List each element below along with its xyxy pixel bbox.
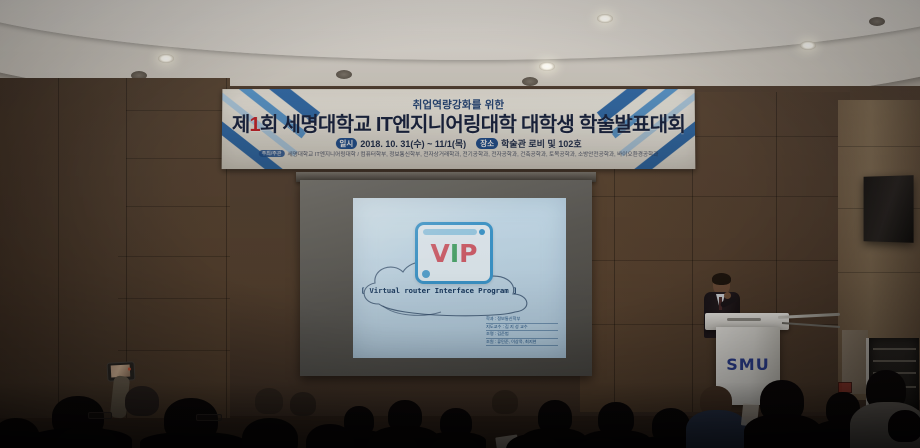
- podium-slot: [727, 318, 761, 321]
- audience-head: [242, 418, 298, 448]
- slide-notes: 학과 : 정보통신학부 지도교수 : 김 지 성 교수 조명 : 김준범 조원 …: [486, 316, 558, 346]
- vip-letter-v: V: [431, 239, 450, 268]
- projection-screen: VIP [ Virtual router Interface Program ]…: [353, 198, 566, 358]
- eyeglasses: [88, 412, 112, 419]
- slide-note-line: 학과 : 정보통신학부: [486, 316, 558, 324]
- ceiling-spotlight: [800, 41, 816, 50]
- phone-indicator-icon: [128, 367, 131, 370]
- presenter-hand: [724, 292, 731, 299]
- audience-head: [492, 390, 518, 414]
- banner-place-value: 학술관 로비 및 102호: [501, 139, 582, 149]
- ceiling-spotlight: [158, 54, 174, 63]
- ceiling-spotlight: [597, 14, 613, 23]
- slide-note-line: 조원 : 류민준, 이상욱, 최지현: [486, 339, 558, 347]
- banner-title-prefix: 제: [232, 114, 250, 136]
- banner-title: 제1회 세명대학교 IT엔지니어링대학 대학생 학술발표대회: [222, 108, 695, 137]
- banner-title-suffix: 회: [260, 114, 278, 136]
- browser-window-icon: VIP: [415, 222, 493, 284]
- audience-head: [290, 392, 316, 416]
- audience: [0, 352, 920, 448]
- eyeglasses: [196, 414, 222, 421]
- banner-orgs-pill: 주최/주관: [259, 150, 285, 157]
- banner-place-pill: 장소: [476, 138, 498, 149]
- ceiling-vent: [869, 17, 885, 26]
- audience-head: [125, 386, 159, 416]
- vip-letter-i: I: [450, 239, 459, 268]
- browser-badge-icon: [422, 270, 430, 278]
- audience-head: [888, 410, 920, 442]
- slide-caption: [ Virtual router Interface Program ]: [359, 286, 519, 295]
- banner-meta: 일시2018. 10. 31(수) ~ 11/1(목) 장소학술관 로비 및 1…: [222, 137, 695, 150]
- browser-address-bar-icon: [423, 229, 477, 235]
- ceiling-vent: [336, 70, 352, 79]
- banner-date-value: 2018. 10. 31(수) ~ 11/1(목): [360, 139, 466, 149]
- banner-title-main: 세명대학교 IT엔지니어링대학 대학생 학술발표대회: [282, 114, 685, 136]
- audience-head: [0, 418, 40, 448]
- slide-note-line: 지도교수 : 김 지 성 교수: [486, 324, 558, 332]
- ceiling-vent: [522, 77, 538, 86]
- banner-title-number: 1: [249, 114, 260, 136]
- conference-hall-photo: 취업역량강화를 위한 제1회 세명대학교 IT엔지니어링대학 대학생 학술발표대…: [0, 0, 920, 448]
- browser-button-icon: [479, 229, 485, 235]
- vip-logo: VIP: [418, 241, 490, 266]
- audience-shoulders: [686, 410, 748, 448]
- banner-date-pill: 일시: [335, 138, 357, 149]
- audience-shoulders: [140, 432, 246, 448]
- event-banner: 취업역량강화를 위한 제1회 세명대학교 IT엔지니어링대학 대학생 학술발표대…: [222, 89, 696, 169]
- wall-speaker: [864, 175, 914, 243]
- presenter-hair: [712, 273, 731, 285]
- vip-letter-p: P: [459, 239, 477, 268]
- ceiling-spotlight: [539, 62, 555, 71]
- projection-screen-frame: VIP [ Virtual router Interface Program ]…: [300, 180, 592, 376]
- banner-orgs-value: 세명대학교 IT엔지니어링대학 / 컴퓨터학부, 정보통신학부, 전자상거래학과…: [287, 152, 658, 158]
- audience-head: [255, 388, 283, 414]
- slide-note-line: 조명 : 김준범: [486, 331, 558, 339]
- banner-organizers: 주최/주관세명대학교 IT엔지니어링대학 / 컴퓨터학부, 정보통신학부, 전자…: [222, 150, 696, 158]
